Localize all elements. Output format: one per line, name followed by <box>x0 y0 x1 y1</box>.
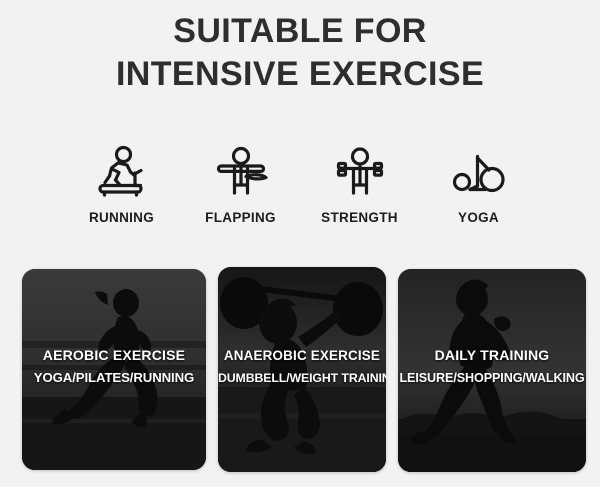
yoga-ball-stretch-icon <box>448 143 510 201</box>
arms-outstretched-figure-icon <box>210 143 272 201</box>
card-caption-daily: DAILY TRAINING LEISURE/SHOPPING/WALKING <box>398 347 586 386</box>
bottom-white-strip <box>0 487 600 498</box>
card-subtitle-aerobic: YOGA/PILATES/RUNNING <box>22 370 206 386</box>
activity-label-yoga: YOGA <box>458 210 499 225</box>
page-title-line-1: SUITABLE FOR <box>0 10 600 53</box>
activity-label-strength: STRENGTH <box>321 210 398 225</box>
activity-item-strength: STRENGTH <box>300 143 419 225</box>
activity-item-running: RUNNING <box>62 143 181 225</box>
page-title: SUITABLE FOR INTENSIVE EXERCISE <box>0 10 600 96</box>
card-title-aerobic: AEROBIC EXERCISE <box>22 347 206 364</box>
card-subtitle-anaerobic: DUMBBELL/WEIGHT TRAINING <box>218 370 386 386</box>
card-caption-aerobic: AEROBIC EXERCISE YOGA/PILATES/RUNNING <box>22 347 206 386</box>
activity-item-flapping: FLAPPING <box>181 143 300 225</box>
card-caption-anaerobic: ANAEROBIC EXERCISE DUMBBELL/WEIGHT TRAIN… <box>218 347 386 386</box>
exercise-card-aerobic[interactable]: AEROBIC EXERCISE YOGA/PILATES/RUNNING <box>22 269 206 470</box>
activity-item-yoga: YOGA <box>419 143 538 225</box>
exercise-card-row: AEROBIC EXERCISE YOGA/PILATES/RUNNING <box>0 267 600 477</box>
activity-label-flapping: FLAPPING <box>205 210 276 225</box>
card-subtitle-daily: LEISURE/SHOPPING/WALKING <box>398 370 586 386</box>
activity-label-running: RUNNING <box>89 210 154 225</box>
activity-icon-row: RUNNING FLAPPING <box>62 143 538 225</box>
dumbbell-figure-icon <box>329 143 391 201</box>
promo-banner: SUITABLE FOR INTENSIVE EXERCISE <box>0 0 600 498</box>
card-title-anaerobic: ANAEROBIC EXERCISE <box>218 347 386 364</box>
exercise-card-daily[interactable]: DAILY TRAINING LEISURE/SHOPPING/WALKING <box>398 269 586 472</box>
card-title-daily: DAILY TRAINING <box>398 347 586 364</box>
exercise-card-anaerobic[interactable]: ANAEROBIC EXERCISE DUMBBELL/WEIGHT TRAIN… <box>218 267 386 472</box>
treadmill-runner-icon <box>91 143 153 201</box>
page-title-line-2: INTENSIVE EXERCISE <box>0 53 600 96</box>
